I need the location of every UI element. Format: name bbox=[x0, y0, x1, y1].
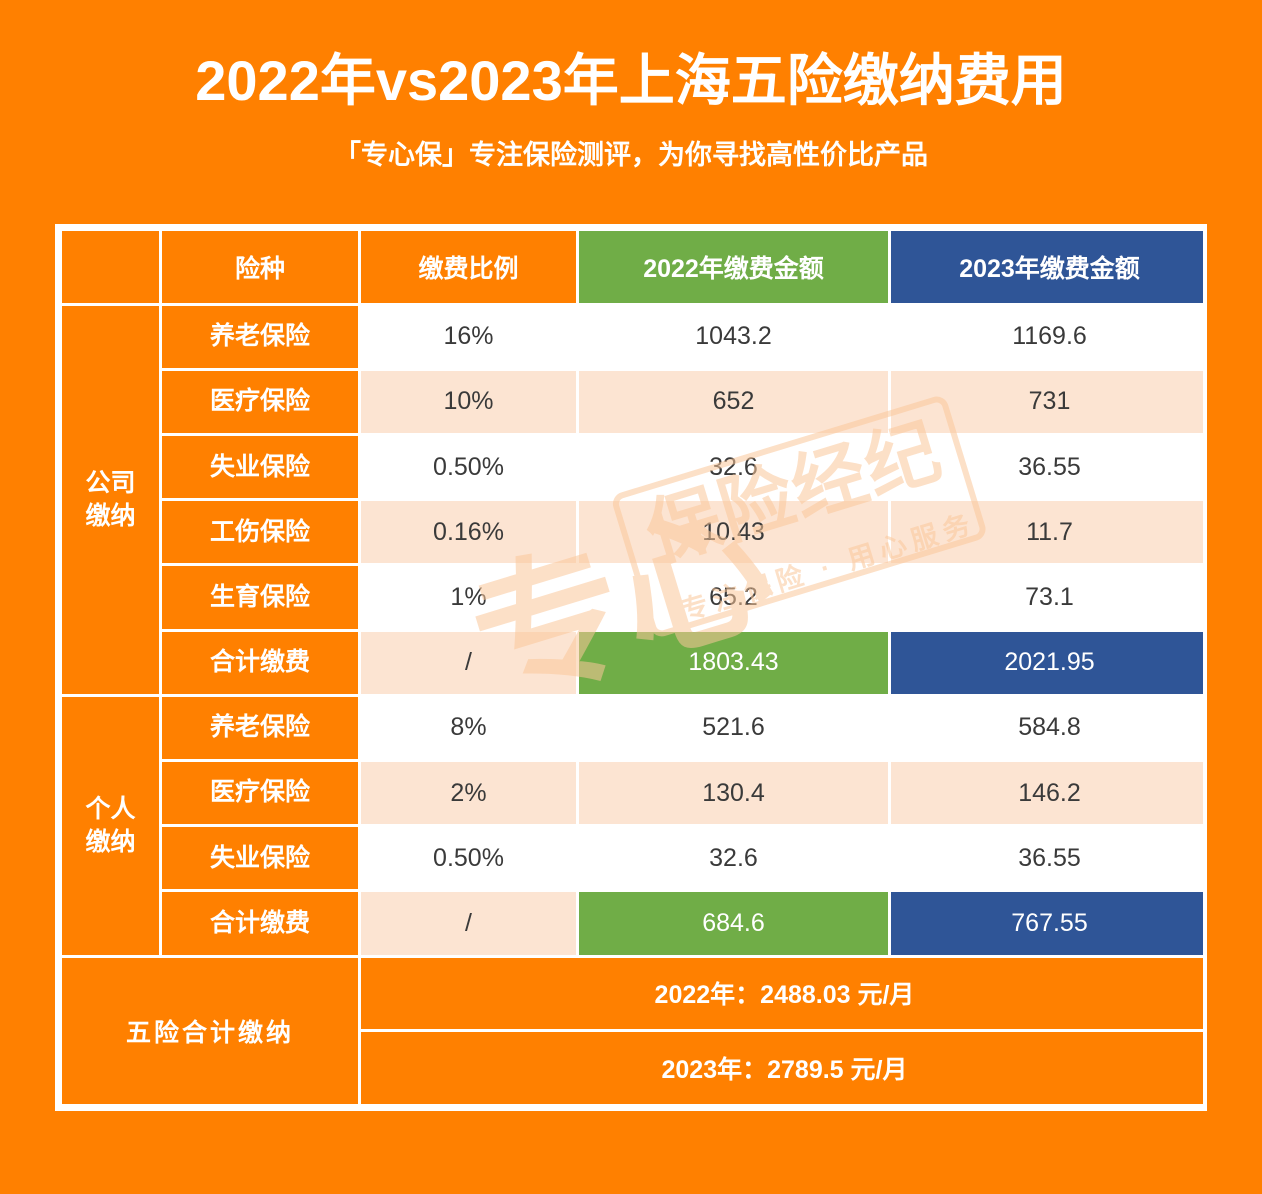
row-amount-2023: 731 bbox=[891, 371, 1207, 433]
column-header-rate: 缴费比例 bbox=[361, 231, 576, 303]
table-footer-row: 五险合计缴纳 2022年：2488.03 元/月 bbox=[62, 958, 1207, 1030]
table-row: 公司 缴纳 养老保险 16% 1043.2 1169.6 bbox=[62, 306, 1207, 368]
row-amount-2023: 146.2 bbox=[891, 762, 1207, 824]
table-row: 失业保险 0.50% 32.6 36.55 bbox=[62, 827, 1207, 889]
header-corner-blank bbox=[62, 231, 159, 303]
page-title: 2022年vs2023年上海五险缴纳费用 bbox=[0, 52, 1262, 111]
row-amount-2023: 36.55 bbox=[891, 436, 1207, 498]
column-header-amount-2023: 2023年缴费金额 bbox=[891, 231, 1207, 303]
footer-total-2023: 2023年：2789.5 元/月 bbox=[361, 1032, 1207, 1104]
row-rate: 2% bbox=[361, 762, 576, 824]
total-row-name: 合计缴费 bbox=[162, 632, 358, 694]
insurance-table: 险种 缴费比例 2022年缴费金额 2023年缴费金额 公司 缴纳 养老保险 1… bbox=[59, 228, 1207, 1107]
row-amount-2022: 1043.2 bbox=[579, 306, 888, 368]
table-total-row: 合计缴费 / 1803.43 2021.95 bbox=[62, 632, 1207, 694]
row-amount-2022: 10.43 bbox=[579, 501, 888, 563]
row-amount-2022: 32.6 bbox=[579, 827, 888, 889]
table-row: 工伤保险 0.16% 10.43 11.7 bbox=[62, 501, 1207, 563]
total-amount-2022: 1803.43 bbox=[579, 632, 888, 694]
page-subtitle: 「专心保」专注保险测评，为你寻找高性价比产品 bbox=[0, 133, 1262, 172]
total-amount-2023: 2021.95 bbox=[891, 632, 1207, 694]
row-rate: 0.50% bbox=[361, 436, 576, 498]
row-name: 失业保险 bbox=[162, 827, 358, 889]
row-name: 工伤保险 bbox=[162, 501, 358, 563]
footer-label-total: 五险合计缴纳 bbox=[62, 958, 358, 1104]
row-rate: 16% bbox=[361, 306, 576, 368]
row-rate: 1% bbox=[361, 566, 576, 628]
row-amount-2022: 32.6 bbox=[579, 436, 888, 498]
row-amount-2023: 1169.6 bbox=[891, 306, 1207, 368]
total-row-name: 合计缴费 bbox=[162, 892, 358, 954]
section-label-company: 公司 缴纳 bbox=[62, 306, 159, 694]
section-label-line: 缴纳 bbox=[66, 500, 155, 533]
table-row: 失业保险 0.50% 32.6 36.55 bbox=[62, 436, 1207, 498]
column-header-amount-2022: 2022年缴费金额 bbox=[579, 231, 888, 303]
section-label-line: 缴纳 bbox=[66, 826, 155, 859]
table-row: 医疗保险 10% 652 731 bbox=[62, 371, 1207, 433]
row-amount-2023: 584.8 bbox=[891, 697, 1207, 759]
table-header-row: 险种 缴费比例 2022年缴费金额 2023年缴费金额 bbox=[62, 231, 1207, 303]
row-amount-2022: 65.2 bbox=[579, 566, 888, 628]
row-name: 医疗保险 bbox=[162, 371, 358, 433]
table-row: 医疗保险 2% 130.4 146.2 bbox=[62, 762, 1207, 824]
row-amount-2023: 11.7 bbox=[891, 501, 1207, 563]
row-name: 养老保险 bbox=[162, 306, 358, 368]
footer-total-2022: 2022年：2488.03 元/月 bbox=[361, 958, 1207, 1030]
row-amount-2022: 652 bbox=[579, 371, 888, 433]
section-label-line: 个人 bbox=[66, 793, 155, 826]
row-name: 医疗保险 bbox=[162, 762, 358, 824]
total-amount-2022: 684.6 bbox=[579, 892, 888, 954]
row-rate: 10% bbox=[361, 371, 576, 433]
row-amount-2023: 36.55 bbox=[891, 827, 1207, 889]
row-amount-2022: 130.4 bbox=[579, 762, 888, 824]
row-name: 失业保险 bbox=[162, 436, 358, 498]
page-header: 2022年vs2023年上海五险缴纳费用 「专心保」专注保险测评，为你寻找高性价… bbox=[0, 0, 1262, 172]
section-label-line: 公司 bbox=[66, 467, 155, 500]
row-name: 养老保险 bbox=[162, 697, 358, 759]
table-row: 生育保险 1% 65.2 73.1 bbox=[62, 566, 1207, 628]
row-rate: 0.50% bbox=[361, 827, 576, 889]
column-header-insurance-type: 险种 bbox=[162, 231, 358, 303]
insurance-table-container: 险种 缴费比例 2022年缴费金额 2023年缴费金额 公司 缴纳 养老保险 1… bbox=[55, 224, 1207, 1111]
table-total-row: 合计缴费 / 684.6 767.55 bbox=[62, 892, 1207, 954]
row-amount-2023: 73.1 bbox=[891, 566, 1207, 628]
row-rate: 8% bbox=[361, 697, 576, 759]
row-amount-2022: 521.6 bbox=[579, 697, 888, 759]
total-row-rate: / bbox=[361, 892, 576, 954]
row-rate: 0.16% bbox=[361, 501, 576, 563]
row-name: 生育保险 bbox=[162, 566, 358, 628]
total-row-rate: / bbox=[361, 632, 576, 694]
section-label-individual: 个人 缴纳 bbox=[62, 697, 159, 955]
table-row: 个人 缴纳 养老保险 8% 521.6 584.8 bbox=[62, 697, 1207, 759]
total-amount-2023: 767.55 bbox=[891, 892, 1207, 954]
